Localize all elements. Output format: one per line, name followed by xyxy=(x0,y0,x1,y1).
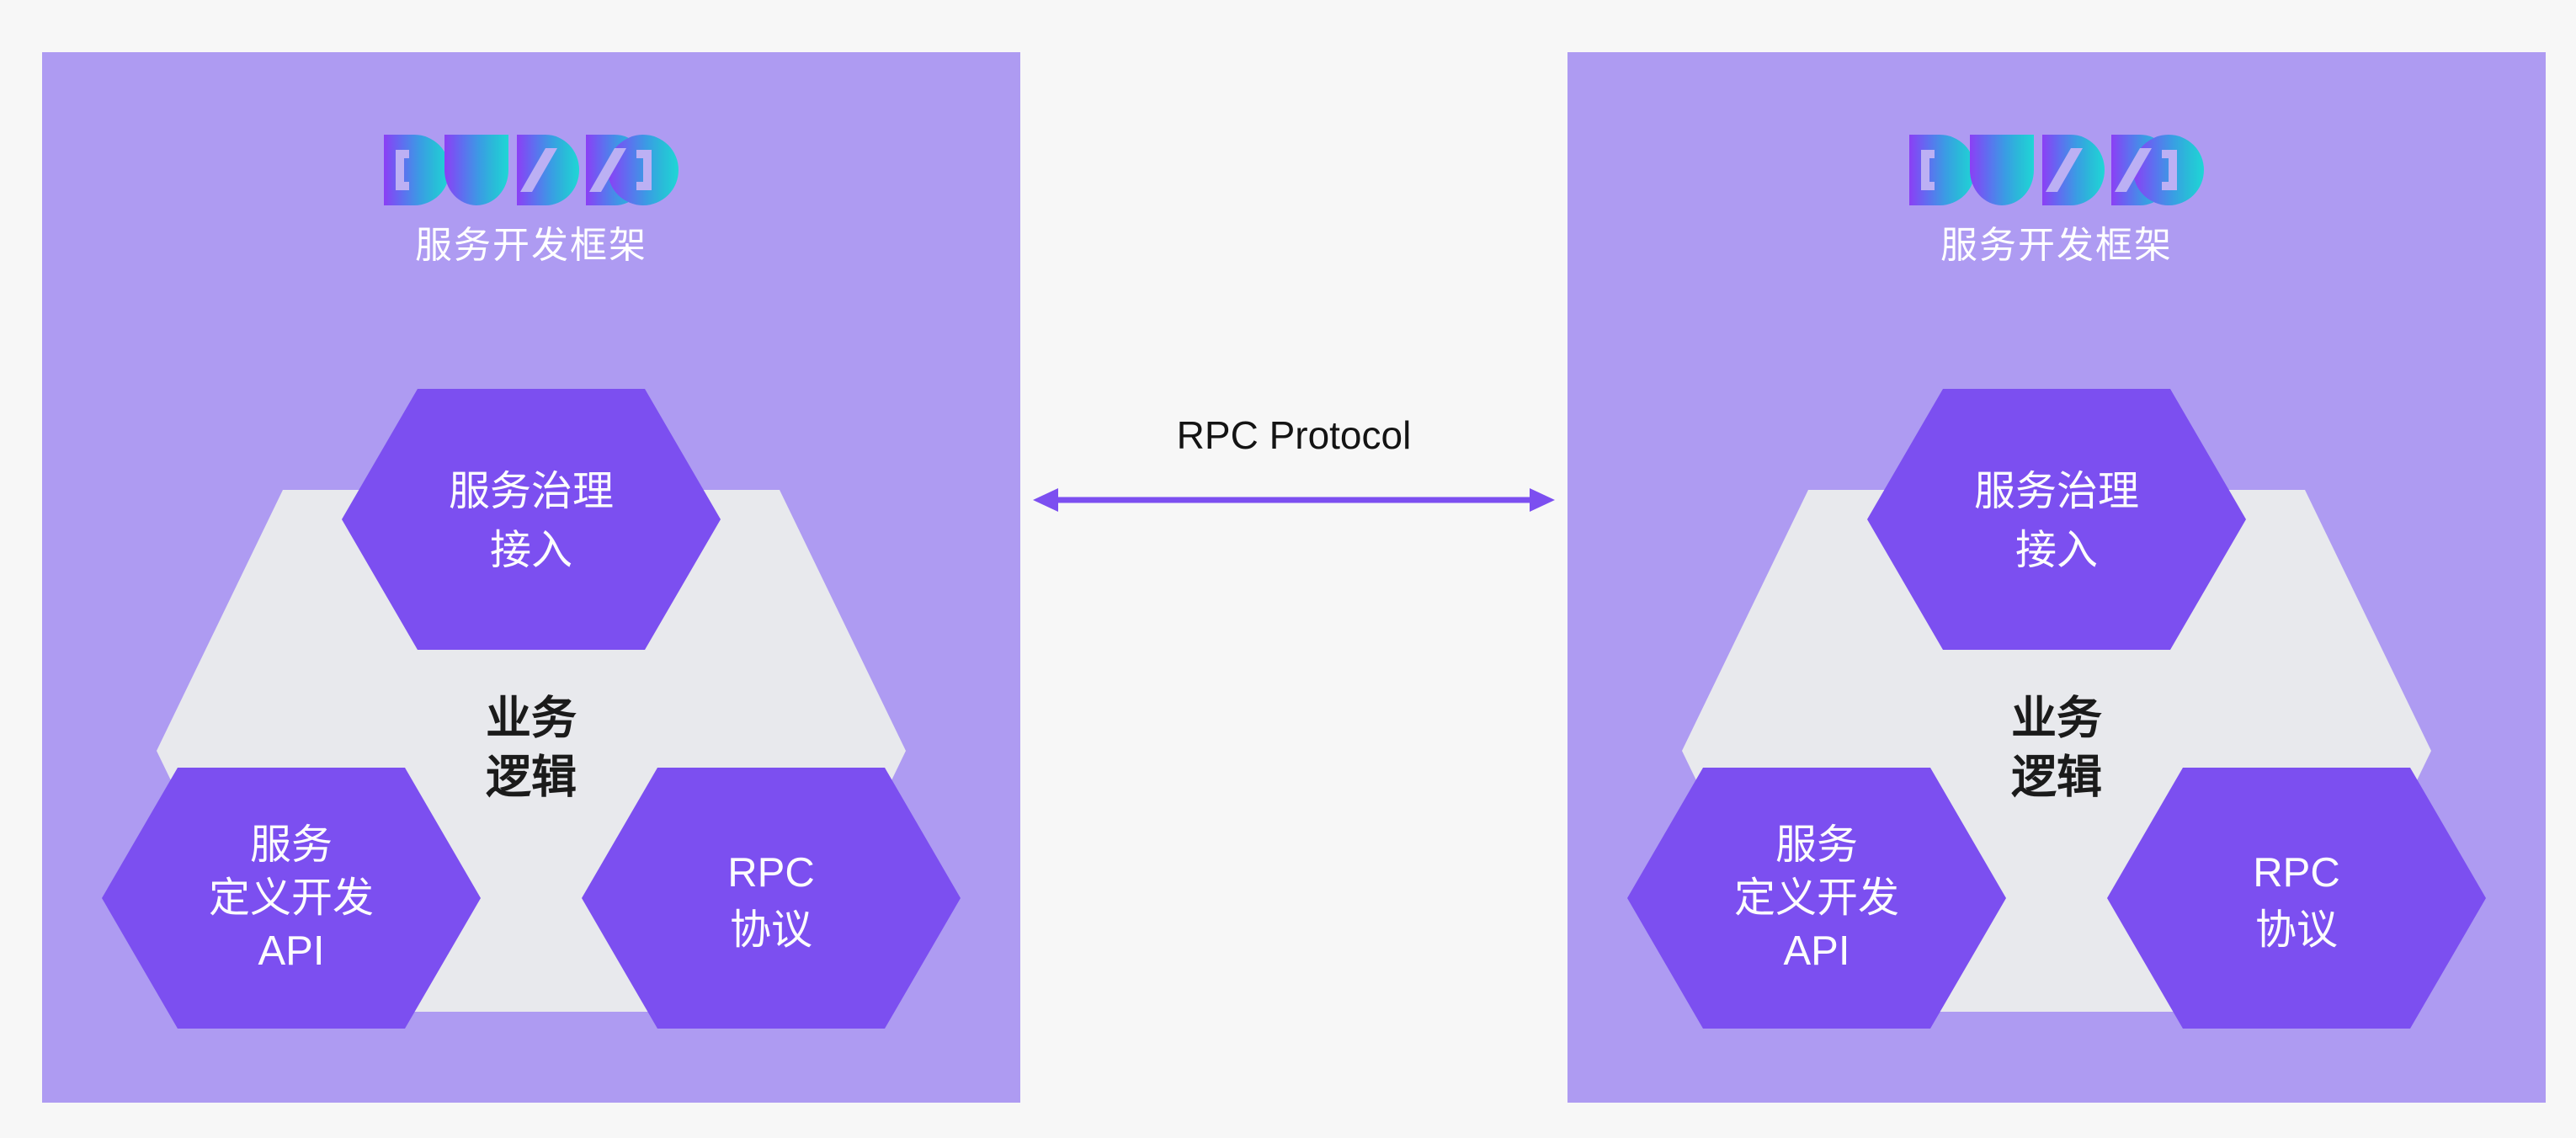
hex-label-rpc-line2: 协议 xyxy=(2255,907,2338,953)
brand-block-right: 服务开发框架 xyxy=(1567,135,2546,264)
dubbo-logo-left xyxy=(384,135,679,205)
hex-diagram-left: 服务治理 接入 服务 定义开发 API RPC 协议 业务 xyxy=(98,364,965,1054)
hex-node-service-governance-left[interactable]: 服务治理 接入 xyxy=(342,389,721,650)
hex-label-definition-line1: 服务 xyxy=(250,822,333,868)
hex-label-rpc-line2: 协议 xyxy=(730,907,812,953)
hex-label-governance-line2: 接入 xyxy=(2015,528,2098,573)
hex-node-service-definition-left[interactable]: 服务 定义开发 API xyxy=(102,768,481,1029)
core-label-line2-left: 逻辑 xyxy=(486,752,577,802)
hex-node-rpc-protocol-right[interactable]: RPC 协议 xyxy=(2107,768,2486,1029)
rpc-connector: RPC Protocol xyxy=(1020,396,1567,547)
hex-label-definition-line1: 服务 xyxy=(1775,822,1858,868)
hex-label-governance-line2: 接入 xyxy=(490,528,572,573)
dubbo-panel-right: 服务开发框架 服务治理 接入 服务 定义开发 API RPC xyxy=(1567,52,2546,1103)
hex-label-definition-line3: API xyxy=(258,928,325,974)
hex-label-governance-line1: 服务治理 xyxy=(449,469,614,514)
core-label-line2-right: 逻辑 xyxy=(2011,752,2102,802)
hex-diagram-right: 服务治理 接入 服务 定义开发 API RPC 协议 业务 逻辑 xyxy=(1623,364,2490,1054)
hex-label-rpc-line1: RPC xyxy=(2253,850,2339,896)
core-label-line1-right: 业务 xyxy=(2011,693,2102,743)
bidirectional-arrow-icon xyxy=(1033,483,1555,517)
core-label-line1-left: 业务 xyxy=(486,693,577,743)
dubbo-panel-left: 服务开发框架 服务治理 接入 服务 定义开发 API xyxy=(42,52,1020,1103)
hex-node-rpc-protocol-left[interactable]: RPC 协议 xyxy=(582,768,961,1029)
hex-node-service-definition-right[interactable]: 服务 定义开发 API xyxy=(1627,768,2006,1029)
hex-label-governance-line1: 服务治理 xyxy=(1974,469,2139,514)
hex-label-rpc-line1: RPC xyxy=(727,850,814,896)
hex-label-definition-line2: 定义开发 xyxy=(1734,875,1899,921)
brand-subtitle-right: 服务开发框架 xyxy=(1940,227,2173,264)
rpc-protocol-label: RPC Protocol xyxy=(1177,416,1412,455)
brand-block-left: 服务开发框架 xyxy=(42,135,1020,264)
brand-subtitle-left: 服务开发框架 xyxy=(415,227,647,264)
hex-label-definition-line2: 定义开发 xyxy=(209,875,374,921)
hex-node-service-governance-right[interactable]: 服务治理 接入 xyxy=(1867,389,2246,650)
diagram-canvas: 服务开发框架 服务治理 接入 服务 定义开发 API xyxy=(0,0,2576,1138)
hex-label-definition-line3: API xyxy=(1784,928,1850,974)
dubbo-logo-right xyxy=(1909,135,2204,205)
